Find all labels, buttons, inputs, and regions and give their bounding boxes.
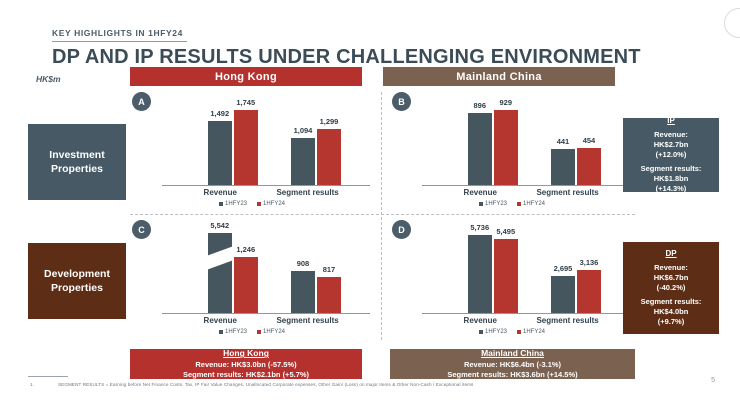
bar-group-revenue-c: 5,542 1,246 [208, 233, 258, 313]
bar-1hfy24-revenue-c[interactable]: 1,246 [234, 257, 258, 313]
bar-value-1hfy24-revenue-c: 1,246 [236, 245, 255, 254]
bar-1hfy23-revenue-c[interactable]: 5,542 [208, 233, 232, 313]
legend-item-1hfy24-a[interactable]: 1HFY24 [257, 201, 285, 207]
bar-group-segment-d: 2,695 3,136 [551, 270, 601, 313]
column-header-hong-kong: Hong Kong [130, 67, 362, 86]
x-axis-a [162, 185, 370, 186]
bar-1hfy24-segment-b[interactable]: 454 [577, 148, 601, 185]
panel-badge-a: A [132, 92, 151, 111]
summary-mainland-china: Mainland China Revenue: HK$6.4bn (-3.1%)… [390, 349, 635, 379]
legend-swatch-icon [219, 202, 223, 206]
bar-fill [494, 110, 518, 185]
legend-d: 1HFY23 1HFY24 [388, 329, 636, 335]
summary-cn-revenue: Revenue: HK$6.4bn (-3.1%) [464, 360, 561, 370]
chart-panel-c: C 5,542 1,246 908 817 [128, 216, 376, 341]
legend-label-1hfy23-d: 1HFY23 [485, 329, 507, 335]
footnote-text: SEGMENT RESULTS = Earning before Net Fin… [58, 382, 680, 387]
plot-area-d: 5,736 5,495 2,695 3,136 [422, 222, 630, 314]
bar-1hfy24-revenue-d[interactable]: 5,495 [494, 239, 518, 313]
bar-fill [577, 270, 601, 313]
x-axis-c [162, 313, 370, 314]
x-tick-segment-c: Segment results [276, 316, 338, 325]
bar-1hfy24-revenue-b[interactable]: 929 [494, 110, 518, 185]
bar-group-revenue-a: 1,492 1,745 [208, 110, 258, 185]
bar-fill [234, 110, 258, 185]
bar-fill [494, 239, 518, 313]
legend-swatch-icon [479, 202, 483, 206]
summary-cn-segment: Segment results: HK$3.6bn (+14.5%) [447, 370, 577, 380]
summary-hk-segment: Segment results: HK$2.1bn (+5.7%) [183, 370, 309, 380]
bar-group-segment-a: 1,094 1,299 [291, 129, 341, 185]
bar-value-1hfy24-revenue-b: 929 [499, 98, 512, 107]
bar-1hfy24-segment-a[interactable]: 1,299 [317, 129, 341, 185]
legend-item-1hfy24-d[interactable]: 1HFY24 [517, 329, 545, 335]
x-tick-revenue-c: Revenue [204, 316, 237, 325]
legend-item-1hfy24-b[interactable]: 1HFY24 [517, 201, 545, 207]
bar-group-revenue-d: 5,736 5,495 [468, 235, 518, 313]
slide: KEY HIGHLIGHTS IN 1HFY24 DP AND IP RESUL… [0, 0, 740, 402]
legend-c: 1HFY23 1HFY24 [128, 329, 376, 335]
legend-item-1hfy23-b[interactable]: 1HFY23 [479, 201, 507, 207]
bar-1hfy24-segment-c[interactable]: 817 [317, 277, 341, 313]
bar-1hfy23-revenue-b[interactable]: 896 [468, 113, 492, 185]
callout-dp-segment: Segment results: HK$4.0bn (+9.7%) [641, 297, 702, 327]
chart-panel-a: A 1,492 1,745 1,094 1,299 [128, 88, 376, 213]
bar-1hfy24-segment-d[interactable]: 3,136 [577, 270, 601, 313]
bar-fill [291, 271, 315, 313]
x-tick-labels-d: Revenue Segment results [422, 316, 630, 328]
legend-b: 1HFY23 1HFY24 [388, 201, 636, 207]
callout-dp-segment-value: HK$4.0bn [641, 307, 702, 317]
decorative-arc [724, 8, 740, 38]
bar-fill [208, 233, 232, 313]
x-tick-segment-d: Segment results [536, 316, 598, 325]
bar-value-1hfy24-segment-b: 454 [583, 136, 596, 145]
bar-value-1hfy24-segment-d: 3,136 [580, 258, 599, 267]
callout-ip-segment-value: HK$1.8bn [641, 174, 702, 184]
legend-swatch-icon [479, 330, 483, 334]
bar-value-1hfy23-revenue-c: 5,542 [210, 221, 229, 230]
legend-swatch-icon [517, 330, 521, 334]
unit-label: HK$m [36, 74, 61, 84]
legend-swatch-icon [517, 202, 521, 206]
legend-item-1hfy23-a[interactable]: 1HFY23 [219, 201, 247, 207]
plot-area-a: 1,492 1,745 1,094 1,299 [162, 94, 370, 186]
callout-ip-revenue-label: Revenue: [654, 130, 689, 140]
callout-ip-segment: Segment results: HK$1.8bn (+14.3%) [641, 164, 702, 194]
legend-a: 1HFY23 1HFY24 [128, 201, 376, 207]
callout-ip-revenue: Revenue: HK$2.7bn (+12.0%) [654, 130, 689, 160]
summary-cn-title: Mainland China [481, 348, 544, 359]
bar-fill [468, 235, 492, 313]
plot-area-c: 5,542 1,246 908 817 [162, 222, 370, 314]
footnote-marker: 1. [30, 382, 34, 387]
bar-fill [291, 138, 315, 185]
x-tick-revenue-b: Revenue [464, 188, 497, 197]
summary-hong-kong: Hong Kong Revenue: HK$3.0bn (-57.5%) Seg… [130, 349, 362, 379]
callout-dp-segment-change: (+9.7%) [641, 317, 702, 327]
callout-ip: IP Revenue: HK$2.7bn (+12.0%) Segment re… [623, 118, 719, 192]
legend-item-1hfy23-d[interactable]: 1HFY23 [479, 329, 507, 335]
bar-fill [551, 149, 575, 185]
callout-dp-revenue-change: (-40.2%) [654, 283, 689, 293]
x-tick-revenue-d: Revenue [464, 316, 497, 325]
row-label-development-properties: Development Properties [28, 243, 126, 319]
callout-dp-title: DP [665, 249, 676, 260]
summary-hk-title: Hong Kong [223, 348, 269, 359]
bar-value-1hfy23-segment-b: 441 [557, 137, 570, 146]
x-tick-segment-b: Segment results [536, 188, 598, 197]
chart-panel-d: D 5,736 5,495 2,695 3,136 [388, 216, 636, 341]
callout-ip-segment-label: Segment results: [641, 164, 702, 174]
bar-value-1hfy23-segment-d: 2,695 [554, 264, 573, 273]
horizontal-divider [130, 214, 635, 215]
callout-dp: DP Revenue: HK$6.7bn (-40.2%) Segment re… [623, 242, 719, 334]
bar-1hfy23-revenue-d[interactable]: 5,736 [468, 235, 492, 313]
bar-fill [468, 113, 492, 185]
row-label-ip-text: Investment Properties [49, 148, 104, 176]
panel-badge-c: C [132, 220, 151, 239]
bar-fill [577, 148, 601, 185]
bar-fill [317, 277, 341, 313]
row-label-dp-text: Development Properties [44, 267, 110, 295]
bar-value-1hfy23-revenue-a: 1,492 [210, 109, 229, 118]
bar-value-1hfy24-revenue-d: 5,495 [496, 227, 515, 236]
bar-group-segment-c: 908 817 [291, 271, 341, 313]
kicker-divider [52, 41, 187, 42]
bar-fill [208, 121, 232, 185]
bar-1hfy23-segment-a[interactable]: 1,094 [291, 138, 315, 185]
callout-ip-segment-change: (+14.3%) [641, 184, 702, 194]
legend-swatch-icon [219, 330, 223, 334]
legend-swatch-icon [257, 330, 261, 334]
x-axis-d [422, 313, 630, 314]
plot-area-b: 896 929 441 454 [422, 94, 630, 186]
bar-1hfy23-segment-c[interactable]: 908 [291, 271, 315, 313]
bar-value-1hfy24-segment-c: 817 [323, 265, 336, 274]
bar-group-revenue-b: 896 929 [468, 110, 518, 185]
x-tick-segment-a: Segment results [276, 188, 338, 197]
bar-group-segment-b: 441 454 [551, 148, 601, 185]
x-tick-labels-b: Revenue Segment results [422, 188, 630, 200]
legend-label-1hfy24-a: 1HFY24 [263, 201, 285, 207]
callout-dp-segment-label: Segment results: [641, 297, 702, 307]
callout-ip-revenue-change: (+12.0%) [654, 150, 689, 160]
bar-1hfy23-segment-b[interactable]: 441 [551, 149, 575, 185]
bar-value-1hfy23-revenue-d: 5,736 [470, 223, 489, 232]
chart-panel-b: B 896 929 441 454 [388, 88, 636, 213]
legend-label-1hfy23-c: 1HFY23 [225, 329, 247, 335]
page-number: 5 [711, 377, 715, 384]
legend-item-1hfy23-c[interactable]: 1HFY23 [219, 329, 247, 335]
legend-label-1hfy24-c: 1HFY24 [263, 329, 285, 335]
x-axis-b [422, 185, 630, 186]
callout-dp-revenue-label: Revenue: [654, 263, 689, 273]
bar-value-1hfy23-segment-c: 908 [297, 259, 310, 268]
panel-badge-d: D [392, 220, 411, 239]
footnote-divider [28, 376, 68, 377]
legend-label-1hfy24-b: 1HFY24 [523, 201, 545, 207]
page-title: DP AND IP RESULTS UNDER CHALLENGING ENVI… [52, 46, 641, 69]
legend-item-1hfy24-c[interactable]: 1HFY24 [257, 329, 285, 335]
callout-dp-revenue: Revenue: HK$6.7bn (-40.2%) [654, 263, 689, 293]
bar-1hfy24-revenue-a[interactable]: 1,745 [234, 110, 258, 185]
callout-dp-revenue-value: HK$6.7bn [654, 273, 689, 283]
slide-kicker: KEY HIGHLIGHTS IN 1HFY24 [52, 28, 183, 38]
legend-label-1hfy23-b: 1HFY23 [485, 201, 507, 207]
legend-label-1hfy24-d: 1HFY24 [523, 329, 545, 335]
panel-badge-b: B [392, 92, 411, 111]
x-tick-labels-a: Revenue Segment results [162, 188, 370, 200]
x-tick-labels-c: Revenue Segment results [162, 316, 370, 328]
row-label-investment-properties: Investment Properties [28, 124, 126, 200]
vertical-divider [381, 92, 382, 340]
callout-ip-revenue-value: HK$2.7bn [654, 140, 689, 150]
legend-swatch-icon [257, 202, 261, 206]
bar-value-1hfy23-revenue-b: 896 [473, 101, 486, 110]
bar-fill [317, 129, 341, 185]
summary-hk-revenue: Revenue: HK$3.0bn (-57.5%) [195, 360, 296, 370]
bar-1hfy23-revenue-a[interactable]: 1,492 [208, 121, 232, 185]
callout-ip-title: IP [667, 116, 675, 127]
bar-fill [234, 257, 258, 313]
bar-value-1hfy24-revenue-a: 1,745 [236, 98, 255, 107]
bar-1hfy23-segment-d[interactable]: 2,695 [551, 276, 575, 313]
bar-value-1hfy24-segment-a: 1,299 [320, 117, 339, 126]
bar-value-1hfy23-segment-a: 1,094 [294, 126, 313, 135]
legend-label-1hfy23-a: 1HFY23 [225, 201, 247, 207]
x-tick-revenue-a: Revenue [204, 188, 237, 197]
bar-fill [551, 276, 575, 313]
column-header-mainland-china: Mainland China [383, 67, 615, 86]
